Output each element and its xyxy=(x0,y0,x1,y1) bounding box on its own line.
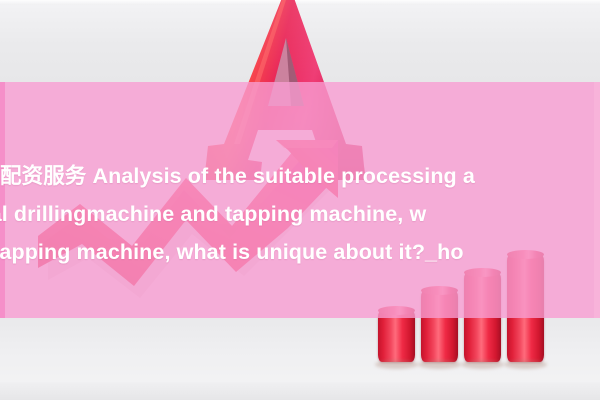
caption-overlay: 配资服务 Analysis of the suitable processing… xyxy=(0,163,600,283)
caption-line-1: 配资服务 Analysis of the suitable processing… xyxy=(0,163,475,189)
caption-line-2: ontal drillingmachine and tapping machin… xyxy=(0,201,426,227)
caption-line-3: l tapping machine, what is unique about … xyxy=(0,239,464,265)
banner-image: 配资服务 Analysis of the suitable processing… xyxy=(0,0,600,400)
